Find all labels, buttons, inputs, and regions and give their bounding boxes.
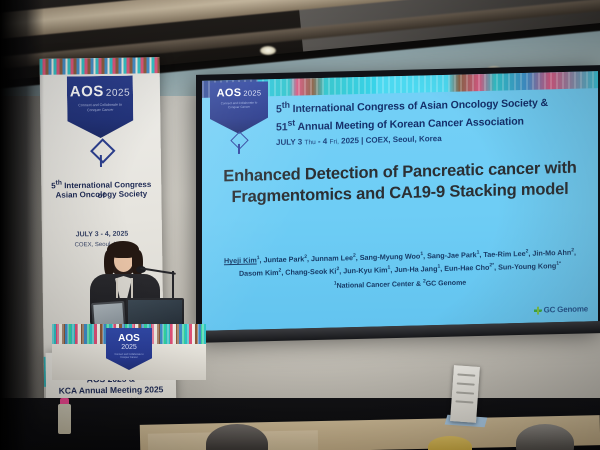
speaker-lanyard-left — [116, 278, 118, 298]
date-fri: Fri, — [330, 138, 339, 145]
name-card-text-lines — [455, 373, 475, 410]
gc-genome-logo: GC Genome — [534, 304, 588, 314]
banner-aos-badge: AOS 2025 Connect and Collaborate to Conq… — [67, 76, 134, 139]
date-main2: - 4 — [318, 137, 327, 146]
gc-genome-text: GC Genome — [544, 304, 588, 314]
presentation-slide: AOS 2025 Connect and Collaborate to Conq… — [202, 71, 598, 331]
downlight-icon — [260, 46, 276, 55]
korean-knot-icon — [92, 142, 110, 168]
name-card-line — [455, 400, 473, 403]
name-card-line — [456, 391, 474, 394]
water-bottle — [58, 398, 71, 434]
date-location: | COEX, Seoul, Korea — [361, 134, 441, 145]
name-card-line — [457, 373, 475, 376]
banner-title-line2: Asian Oncology Society — [47, 189, 155, 201]
slide-aos-text: AOS — [217, 87, 242, 100]
name-card — [450, 365, 480, 423]
slide-aos-badge: AOS 2025 Connect and Collaborate to Conq… — [210, 81, 268, 134]
slide-title: Enhanced Detection of Pancreatic cancer … — [212, 157, 588, 209]
podium-and-speaker: AOS 2025 Connect and Collaborate to Conq… — [52, 236, 206, 356]
laptop-screen — [128, 300, 182, 326]
speaker-lanyard-right — [131, 278, 133, 298]
slide-aos-wordmark: AOS 2025 — [217, 86, 262, 99]
banner-aos-wordmark: AOS 2025 — [70, 83, 130, 101]
slide-korean-knot-icon — [232, 134, 246, 154]
banner-pattern-strip — [39, 57, 159, 75]
left-dark-edge — [0, 0, 44, 450]
podium-aos-text: AOS — [118, 333, 140, 344]
name-card-line — [457, 382, 475, 385]
podium-aos-year: 2025 — [121, 344, 137, 351]
banner-aos-text: AOS — [70, 83, 104, 100]
lower-banner-line2: KCA Annual Meeting 2025 — [50, 384, 172, 396]
microphone-pole — [172, 271, 174, 301]
bottle-body — [58, 404, 71, 434]
date-main: JULY 3 — [276, 137, 302, 147]
date-thu: Thu — [304, 139, 315, 146]
slide-authors: Hyeji Kim1, Juntae Park2, Junnam Lee2, S… — [216, 246, 584, 297]
slide-aos-tagline: Connect and Collaborate to Conquer Cance… — [216, 101, 262, 110]
slide-aos-year: 2025 — [243, 88, 261, 97]
banner-aos-tagline: Connect and Collaborate to Conquer Cance… — [74, 103, 126, 113]
banner-aos-year: 2025 — [106, 88, 130, 99]
slide-header: 5th International Congress of Asian Onco… — [276, 91, 590, 147]
date-year: 2025 — [341, 136, 359, 145]
gc-genome-cross-icon — [534, 306, 542, 314]
conference-photo-scene: 국립암센터 AOS 2025 Connect and Collaborate t… — [0, 0, 600, 450]
podium-aos-tagline: Connect and Collaborate to Conquer Cance… — [111, 353, 147, 359]
